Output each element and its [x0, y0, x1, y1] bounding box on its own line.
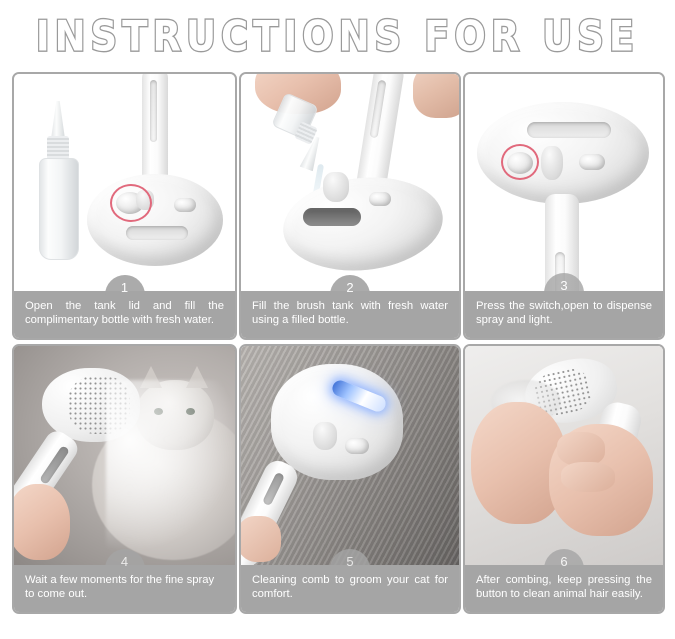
page-header: INSTRUCTIONS FOR USE: [0, 0, 675, 72]
instruction-step-1: 1 Open the tank lid and fill the complim…: [12, 72, 237, 340]
thumb-on-button: [557, 432, 605, 466]
step-3-photo: 3: [465, 74, 663, 291]
hand-holding-brush: [14, 484, 70, 560]
step-5-caption-bar: 5 Cleaning comb to groom your cat for co…: [241, 565, 459, 612]
base-vent-slot: [126, 226, 188, 240]
step-4-caption-bar: 4 Wait a few moments for the fine spray …: [14, 565, 235, 612]
step-1-caption-bar: 1 Open the tank lid and fill the complim…: [14, 291, 235, 338]
step-1-caption-text: Open the tank lid and fill the complimen…: [25, 300, 224, 326]
instruction-step-4: 4 Wait a few moments for the fine spray …: [12, 344, 237, 614]
filling-tank-illustration: [241, 74, 459, 291]
base-vent-slot: [303, 208, 361, 226]
spraying-cat-illustration: [14, 346, 235, 565]
step-3-caption-text: Press the switch,open to dispense spray …: [476, 300, 652, 326]
power-button: [174, 198, 196, 212]
brush-water-tank-base: [87, 174, 223, 266]
bottle-neck: [47, 136, 69, 160]
instruction-step-6: 6 After combing, keep pressing the butto…: [463, 344, 665, 614]
step-3-caption-bar: Press the switch,open to dispense spray …: [465, 291, 663, 338]
tank-nozzle: [541, 146, 563, 180]
power-button: [369, 192, 391, 206]
tank-fill-port: [323, 172, 349, 202]
bottle-and-brush-illustration: [14, 74, 235, 291]
handle-slot: [150, 80, 157, 142]
step-6-caption-text: After combing, keep pressing the button …: [476, 574, 652, 600]
step-5-photo: [241, 346, 459, 565]
step-1-photo: [14, 74, 235, 291]
tank-lid-highlight-ring: [110, 184, 152, 222]
bottle-tip: [51, 101, 65, 139]
grooming-fur-illustration: [241, 346, 459, 565]
step-6-caption-bar: 6 After combing, keep pressing the butto…: [465, 565, 663, 612]
cleaning-brush-illustration: [465, 346, 663, 565]
finger-wrap: [561, 462, 615, 492]
power-button: [345, 438, 369, 454]
light-button: [579, 154, 605, 170]
page-title: INSTRUCTIONS FOR USE: [36, 12, 639, 60]
instruction-step-5: 5 Cleaning comb to groom your cat for co…: [239, 344, 461, 614]
water-mist-spray: [106, 380, 235, 550]
step-2-caption-text: Fill the brush tank with fresh water usi…: [252, 300, 448, 326]
brush-water-tank-base: [279, 170, 448, 278]
finger-on-handle: [241, 516, 281, 562]
instruction-step-grid: 1 Open the tank lid and fill the complim…: [12, 72, 663, 614]
step-2-photo: [241, 74, 459, 291]
bottle-body: [39, 158, 79, 260]
instruction-step-2: 2 Fill the brush tank with fresh water u…: [239, 72, 461, 340]
tank-nozzle: [313, 422, 337, 450]
instruction-step-3: 3 Press the switch,open to dispense spra…: [463, 72, 665, 340]
step-5-caption-text: Cleaning comb to groom your cat for comf…: [252, 574, 448, 600]
step-4-photo: [14, 346, 235, 565]
step-4-caption-text: Wait a few moments for the fine spray to…: [25, 574, 214, 600]
step-6-photo: [465, 346, 663, 565]
switch-closeup-illustration: 3: [465, 74, 663, 291]
step-2-caption-bar: 2 Fill the brush tank with fresh water u…: [241, 291, 459, 338]
switch-highlight-ring: [501, 144, 539, 180]
base-vent-slot: [527, 122, 611, 138]
forearm: [413, 74, 459, 118]
